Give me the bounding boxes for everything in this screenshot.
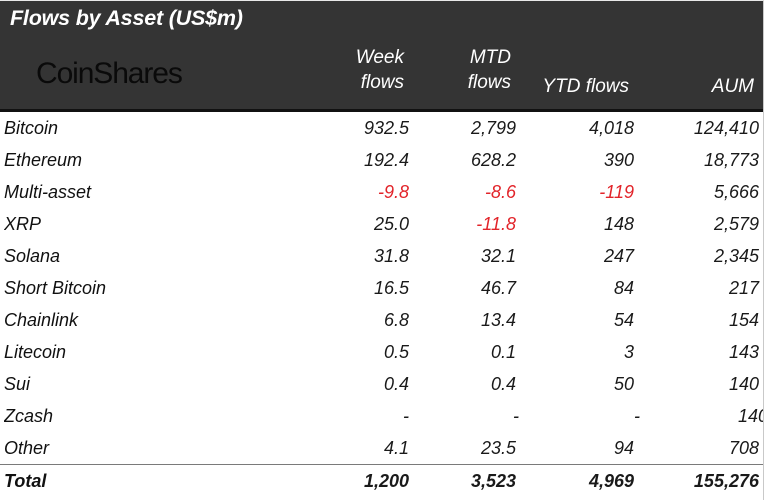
table-row: Solana31.832.12472,345 bbox=[0, 240, 763, 272]
cell-aum: 143 bbox=[634, 342, 759, 363]
cell-aum: 5,666 bbox=[634, 182, 759, 203]
cell-aum: 140 bbox=[643, 406, 764, 427]
cell-ytd: 50 bbox=[516, 374, 634, 395]
column-header-ytd-flows-line2: YTD flows bbox=[542, 74, 629, 99]
cell-ytd: 84 bbox=[516, 278, 634, 299]
cell-week: 192.4 bbox=[340, 150, 409, 171]
table-row-total: Total1,2003,5234,969155,276 bbox=[0, 464, 763, 497]
cell-mtd: 32.1 bbox=[409, 246, 516, 267]
page-title: Flows by Asset (US$m) bbox=[10, 6, 243, 31]
cell-aum: 2,579 bbox=[634, 214, 759, 235]
cell-ytd: 390 bbox=[516, 150, 634, 171]
table-row: Bitcoin932.52,7994,018124,410 bbox=[0, 112, 763, 144]
cell-week: 6.8 bbox=[340, 310, 409, 331]
cell-mtd: 13.4 bbox=[409, 310, 516, 331]
cell-mtd: 0.4 bbox=[409, 374, 516, 395]
cell-aum: 217 bbox=[634, 278, 759, 299]
cell-week: 16.5 bbox=[340, 278, 409, 299]
table-row: XRP25.0-11.81482,579 bbox=[0, 208, 763, 240]
cell-week: 25.0 bbox=[340, 214, 409, 235]
table-body: Bitcoin932.52,7994,018124,410Ethereum192… bbox=[0, 112, 763, 497]
column-header-ytd-flows: YTD flows bbox=[542, 74, 629, 99]
column-header-mtd-flows: MTD flows bbox=[468, 45, 511, 95]
asset-name: XRP bbox=[4, 214, 340, 235]
asset-name: Chainlink bbox=[4, 310, 340, 331]
asset-name: Zcash bbox=[4, 406, 340, 427]
cell-ytd: 148 bbox=[516, 214, 634, 235]
table-row: Short Bitcoin16.546.784217 bbox=[0, 272, 763, 304]
column-header-aum-line2: AUM bbox=[712, 74, 754, 99]
cell-mtd: -8.6 bbox=[409, 182, 516, 203]
asset-name: Short Bitcoin bbox=[4, 278, 340, 299]
asset-name: Multi-asset bbox=[4, 182, 340, 203]
cell-ytd: -119 bbox=[516, 182, 634, 203]
cell-aum: 708 bbox=[634, 438, 759, 459]
table-row: Zcash---140 bbox=[0, 400, 763, 432]
column-header-week-flows: Week flows bbox=[356, 45, 404, 95]
asset-name: Total bbox=[4, 471, 340, 492]
cell-ytd: 247 bbox=[516, 246, 634, 267]
cell-ytd: 54 bbox=[516, 310, 634, 331]
column-header-mtd-flows-line2: flows bbox=[468, 70, 511, 95]
table-row: Multi-asset-9.8-8.6-1195,666 bbox=[0, 176, 763, 208]
asset-name: Sui bbox=[4, 374, 340, 395]
column-header-mtd-flows-line1: MTD bbox=[468, 45, 511, 70]
cell-mtd: 2,799 bbox=[409, 118, 516, 139]
asset-name: Ethereum bbox=[4, 150, 340, 171]
cell-ytd: 4,969 bbox=[516, 471, 634, 492]
table-row: Litecoin0.50.13143 bbox=[0, 336, 763, 368]
asset-name: Solana bbox=[4, 246, 340, 267]
asset-name: Litecoin bbox=[4, 342, 340, 363]
table-row: Ethereum192.4628.239018,773 bbox=[0, 144, 763, 176]
cell-aum: 124,410 bbox=[634, 118, 759, 139]
cell-ytd: 4,018 bbox=[516, 118, 634, 139]
cell-ytd: - bbox=[522, 406, 643, 427]
table-row: Sui0.40.450140 bbox=[0, 368, 763, 400]
table-header: Flows by Asset (US$m) CoinShares Week fl… bbox=[0, 1, 763, 112]
cell-aum: 154 bbox=[634, 310, 759, 331]
cell-week: 31.8 bbox=[340, 246, 409, 267]
cell-week: 4.1 bbox=[340, 438, 409, 459]
table-row: Chainlink6.813.454154 bbox=[0, 304, 763, 336]
cell-ytd: 3 bbox=[516, 342, 634, 363]
cell-week: 0.4 bbox=[340, 374, 409, 395]
cell-mtd: 0.1 bbox=[409, 342, 516, 363]
table-row: Other4.123.594708 bbox=[0, 432, 763, 464]
coinshares-logo: CoinShares bbox=[36, 57, 182, 91]
cell-week: 0.5 bbox=[340, 342, 409, 363]
cell-week: -9.8 bbox=[340, 182, 409, 203]
cell-mtd: 23.5 bbox=[409, 438, 516, 459]
cell-week: 932.5 bbox=[340, 118, 409, 139]
cell-mtd: 628.2 bbox=[409, 150, 516, 171]
cell-mtd: 3,523 bbox=[409, 471, 516, 492]
cell-aum: 140 bbox=[634, 374, 759, 395]
cell-aum: 155,276 bbox=[634, 471, 759, 492]
cell-mtd: - bbox=[412, 406, 522, 427]
column-header-aum: AUM bbox=[712, 74, 754, 99]
cell-aum: 18,773 bbox=[634, 150, 759, 171]
column-header-week-flows-line2: flows bbox=[356, 70, 404, 95]
cell-week: - bbox=[340, 406, 412, 427]
asset-name: Other bbox=[4, 438, 340, 459]
cell-week: 1,200 bbox=[340, 471, 409, 492]
cell-aum: 2,345 bbox=[634, 246, 759, 267]
cell-mtd: 46.7 bbox=[409, 278, 516, 299]
flows-by-asset-table-card: Flows by Asset (US$m) CoinShares Week fl… bbox=[0, 0, 764, 500]
asset-name: Bitcoin bbox=[4, 118, 340, 139]
cell-ytd: 94 bbox=[516, 438, 634, 459]
cell-mtd: -11.8 bbox=[409, 214, 516, 235]
column-header-week-flows-line1: Week bbox=[356, 45, 404, 70]
